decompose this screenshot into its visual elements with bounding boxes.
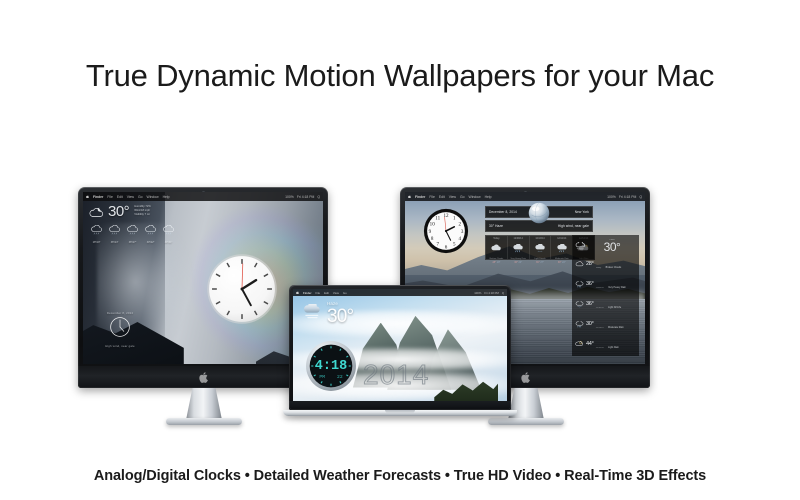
row-detail: Today Broken Clouds xyxy=(596,255,636,273)
clock-seconds: 22 xyxy=(337,374,343,380)
menubar-item-edit[interactable]: Edit xyxy=(324,291,329,295)
row-temp: 44° xyxy=(586,341,594,347)
panel-current-condition: 30° Haze xyxy=(489,224,503,228)
row-temp: 36° xyxy=(586,301,594,307)
forecast-day[interactable]: 36°/24° xyxy=(106,222,123,244)
forecast-list-row[interactable]: 44° 12/12/14 Light Rain xyxy=(575,335,636,353)
forecast-day-label: 12/11/14 xyxy=(551,237,572,240)
rain-cloud-icon xyxy=(108,225,121,235)
rain-cloud-icon xyxy=(90,225,103,235)
menubar-item-finder[interactable]: Finder xyxy=(415,195,425,199)
rain-cloud-icon xyxy=(162,225,175,235)
right-date-panel[interactable]: December 8, 2014 New York 30° Haze High … xyxy=(485,206,593,232)
menubar-item-help[interactable]: Help xyxy=(485,195,492,199)
row-detail: 12/11/14 Moderate Rain xyxy=(596,315,636,333)
laptop-weather-readout: Haze 30° xyxy=(327,301,353,326)
panel-wind: High wind, near gale xyxy=(558,224,589,228)
clock-center-pin xyxy=(241,288,244,291)
forecast-card[interactable]: 12/11/14 Moderate Rain 30° 22° xyxy=(551,236,573,259)
apple-logo-icon[interactable] xyxy=(408,195,411,199)
apple-logo-icon[interactable] xyxy=(86,195,89,199)
clock-center-pin xyxy=(445,230,447,232)
menubar-item-file[interactable]: File xyxy=(107,195,112,199)
row-temp: 28° xyxy=(586,261,594,267)
forecast-temps: 36° 27° xyxy=(530,261,551,264)
forecast-list-current-readout: Haze 30° xyxy=(588,239,636,253)
clock-time-readout: 4:18 xyxy=(315,359,347,374)
menubar-item-view[interactable]: View xyxy=(127,195,134,199)
drizzle-icon xyxy=(534,244,546,253)
laptop-lid-notch xyxy=(385,410,415,413)
laptop-digital-clock[interactable]: 4:18 PM 22 xyxy=(305,340,357,392)
current-temp: 30° xyxy=(588,241,636,253)
laptop-screen[interactable]: Finder File Edit View Go 100% Fri 4:18 P… xyxy=(293,289,507,401)
cloud-icon xyxy=(575,261,584,268)
row-day: Today xyxy=(596,267,602,269)
row-temp: 36° xyxy=(586,281,594,287)
row-detail: 12/12/14 Light Rain xyxy=(596,335,636,353)
menubar-item-file[interactable]: File xyxy=(429,195,434,199)
right-forecast-list[interactable]: Haze 30° 28° Today Broken Clouds xyxy=(572,235,639,356)
laptop-weather-temp: 30° xyxy=(327,307,353,326)
forecast-lo: 27° xyxy=(540,261,544,264)
laptop-chin xyxy=(289,401,511,410)
forecast-list-current: Haze 30° xyxy=(575,239,636,253)
menubar-battery[interactable]: 100% xyxy=(607,195,616,199)
menubar-spotlight-icon[interactable]: Q xyxy=(502,291,504,295)
forecast-card[interactable]: 12/09/14 Very Heavy Rain 36° 24° xyxy=(508,236,530,259)
menubar-item-window[interactable]: Window xyxy=(147,195,159,199)
menubar-item-go[interactable]: Go xyxy=(138,195,143,199)
menubar-status-area[interactable]: 100% Fri 4:18 PM Q xyxy=(285,195,320,199)
menubar-item-file[interactable]: File xyxy=(316,291,321,295)
laptop-menubar[interactable]: Finder File Edit View Go 100% Fri 4:18 P… xyxy=(293,289,507,296)
rain-cloud-icon xyxy=(575,321,584,328)
left-analog-clock[interactable] xyxy=(205,252,279,326)
forecast-temp: 36°/24° xyxy=(106,241,123,244)
apple-logo-icon xyxy=(521,372,530,383)
menubar-battery[interactable]: 100% xyxy=(474,291,481,295)
clock-meridiem: PM xyxy=(319,374,325,380)
menubar-item-finder[interactable]: Finder xyxy=(93,195,103,199)
cloud-icon xyxy=(490,244,502,253)
row-day: 12/12/14 xyxy=(596,347,604,349)
menubar-item-finder[interactable]: Finder xyxy=(303,291,312,295)
row-detail: 12/09/14 Very Heavy Rain xyxy=(596,275,636,293)
menubar-item-window[interactable]: Window xyxy=(469,195,481,199)
menubar-status-area[interactable]: 100% Fri 4:18 PM Q xyxy=(607,195,642,199)
left-display-screen[interactable]: Finder File Edit View Go Window Help 100… xyxy=(83,192,323,364)
left-weather-temp: 30° xyxy=(108,204,129,219)
forecast-list-row[interactable]: 36° 12/10/14 Light Drizzle xyxy=(575,295,636,313)
menubar-item-view[interactable]: View xyxy=(333,291,339,295)
forecast-day[interactable]: 36°/27° xyxy=(124,222,141,244)
left-mini-clock-widget[interactable]: December 8, 2014 High wind, near gale xyxy=(97,311,143,348)
row-temp: 30° xyxy=(586,321,594,327)
forecast-day-label: 12/09/14 xyxy=(508,237,529,240)
forecast-day-label: 12/10/14 xyxy=(530,237,551,240)
menubar-spotlight-icon[interactable]: Q xyxy=(639,195,642,199)
left-weather-visibility: Visibility 7 mi xyxy=(134,213,151,217)
forecast-temp: 36°/27° xyxy=(124,241,141,244)
forecast-hi: 30° xyxy=(558,261,562,264)
menubar-battery[interactable]: 100% xyxy=(285,195,294,199)
macbook-pro-laptop[interactable]: Finder File Edit View Go 100% Fri 4:18 P… xyxy=(289,285,511,410)
svg-text:12: 12 xyxy=(443,213,449,219)
year-overlay: 2014 xyxy=(363,361,429,389)
forecast-temp: 28°/19° xyxy=(88,241,105,244)
menubar-item-help[interactable]: Help xyxy=(163,195,170,199)
menubar-status-area[interactable]: 100% Fri 4:18 PM Q xyxy=(474,291,504,295)
right-display-stand-foot xyxy=(488,418,564,425)
rain-cloud-icon xyxy=(575,281,584,288)
svg-text:10: 10 xyxy=(430,221,436,227)
forecast-temp: 30°/22° xyxy=(142,241,159,244)
apple-logo-icon[interactable] xyxy=(296,291,299,295)
forecast-day[interactable]: 44°/31° xyxy=(160,222,177,244)
menubar-clock[interactable]: Fri 4:18 PM xyxy=(619,195,637,199)
panel-location: New York xyxy=(575,210,589,214)
forecast-lo: 22° xyxy=(562,261,566,264)
row-desc: Very Heavy Rain xyxy=(608,286,626,289)
forecast-card[interactable]: Today Broken Clouds 28° 19° xyxy=(486,236,508,259)
rain-cloud-icon xyxy=(512,244,524,253)
forecast-day[interactable]: 28°/19° xyxy=(88,222,105,244)
forecast-temps: 28° 19° xyxy=(486,261,507,264)
left-menubar[interactable]: Finder File Edit View Go Window Help 100… xyxy=(83,192,323,201)
row-day: 12/10/14 xyxy=(596,307,604,309)
apple-logo-icon xyxy=(199,372,208,383)
row-day: 12/11/14 xyxy=(596,327,604,329)
forecast-list-row[interactable]: 36° 12/09/14 Very Heavy Rain xyxy=(575,275,636,293)
forecast-hi: 28° xyxy=(492,261,496,264)
mini-clock-wind: High wind, near gale xyxy=(97,344,143,348)
forecast-list-row[interactable]: 30° 12/11/14 Moderate Rain xyxy=(575,315,636,333)
sun-cloud-icon xyxy=(575,341,584,348)
forecast-temps: 36° 24° xyxy=(508,261,529,264)
haze-icon xyxy=(302,304,323,320)
mini-clock-date: December 8, 2014 xyxy=(97,311,143,315)
panel-date: December 8, 2014 xyxy=(489,210,517,214)
left-weather-forecast-row: 28°/19° 36°/24° 36°/ xyxy=(88,222,180,244)
forecast-lo: 19° xyxy=(497,261,501,264)
forecast-temps: 30° 22° xyxy=(551,261,572,264)
page-footer-features: Analog/Digital Clocks • Detailed Weather… xyxy=(0,468,800,484)
laptop-weather-widget[interactable]: Haze 30° xyxy=(302,301,353,326)
left-weather-current: 30° Humidity 72% Wind 18 mph Visibility … xyxy=(88,204,180,219)
left-weather-readout: 30° xyxy=(108,204,129,219)
svg-text:11: 11 xyxy=(435,216,440,222)
row-desc: Light Drizzle xyxy=(608,306,621,309)
left-display-stand-neck xyxy=(186,388,222,420)
menubar-item-edit[interactable]: Edit xyxy=(117,195,123,199)
menubar-clock[interactable]: Fri 4:18 PM xyxy=(297,195,315,199)
forecast-list-row[interactable]: 28° Today Broken Clouds xyxy=(575,255,636,273)
date-location-bar: December 8, 2014 New York xyxy=(485,206,593,218)
row-desc: Moderate Rain xyxy=(608,326,624,329)
cloud-moon-icon xyxy=(88,206,105,219)
mini-analog-clock-icon xyxy=(109,316,131,338)
forecast-lo: 24° xyxy=(519,261,523,264)
rain-cloud-icon xyxy=(126,225,139,235)
menubar-spotlight-icon[interactable]: Q xyxy=(317,195,320,199)
menubar-item-go[interactable]: Go xyxy=(460,195,465,199)
forecast-hi: 36° xyxy=(514,261,518,264)
menubar-item-view[interactable]: View xyxy=(449,195,456,199)
forecast-card[interactable]: 12/10/14 Light Drizzle 36° 27° xyxy=(530,236,552,259)
row-desc: Broken Clouds xyxy=(606,266,622,269)
product-showcase-stage: Finder File Edit View Go Window Help 100… xyxy=(0,175,800,435)
rain-cloud-icon xyxy=(556,244,568,253)
rain-cloud-icon xyxy=(144,225,157,235)
left-display-stand-foot xyxy=(166,418,242,425)
haze-icon xyxy=(575,242,586,251)
drizzle-icon xyxy=(575,301,584,308)
menubar-clock[interactable]: Fri 4:18 PM xyxy=(484,291,498,295)
forecast-temp: 44°/31° xyxy=(160,241,177,244)
row-detail: 12/10/14 Light Drizzle xyxy=(596,295,636,313)
page-headline: True Dynamic Motion Wallpapers for your … xyxy=(0,58,800,94)
right-menubar[interactable]: Finder File Edit View Go Window Help 100… xyxy=(405,192,645,201)
row-day: 12/09/14 xyxy=(596,287,604,289)
forecast-day-label: Today xyxy=(486,237,507,240)
forecast-day[interactable]: 30°/22° xyxy=(142,222,159,244)
menubar-item-go[interactable]: Go xyxy=(343,291,347,295)
condition-wind-bar: 30° Haze High wind, near gale xyxy=(485,220,593,232)
menubar-item-edit[interactable]: Edit xyxy=(439,195,445,199)
left-weather-meta: Humidity 72% Wind 18 mph Visibility 7 mi xyxy=(134,205,151,217)
row-desc: Light Rain xyxy=(608,346,619,349)
left-weather-widget[interactable]: 30° Humidity 72% Wind 18 mph Visibility … xyxy=(88,204,180,244)
right-analog-clock[interactable]: 1212 345 678 91011 xyxy=(423,208,469,254)
laptop-base xyxy=(283,410,517,416)
